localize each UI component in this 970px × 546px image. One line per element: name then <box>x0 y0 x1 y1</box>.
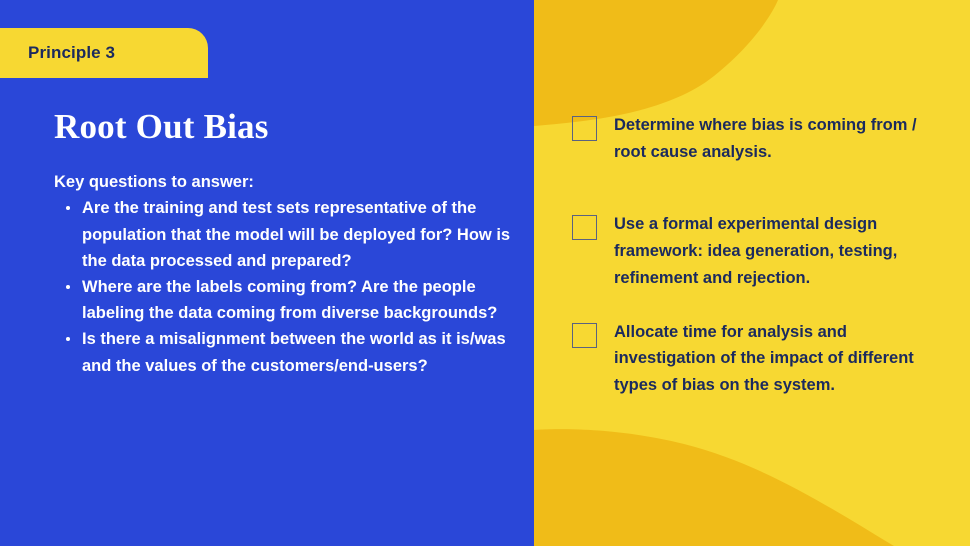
list-item: Are the training and test sets represent… <box>54 195 516 274</box>
list-item: Where are the labels coming from? Are th… <box>54 274 516 326</box>
list-item-text: Are the training and test sets represent… <box>82 199 510 269</box>
wave-shape-top-right <box>534 0 970 126</box>
bullet-dot-icon <box>66 285 70 289</box>
checklist-item[interactable]: Allocate time for analysis and investiga… <box>572 319 952 399</box>
page-title: Root Out Bias <box>54 108 504 147</box>
right-checklist-panel: Determine where bias is coming from / ro… <box>534 0 970 546</box>
left-content-panel: Principle 3 Root Out Bias Key questions … <box>0 0 534 546</box>
wave-shape-bottom-left <box>534 429 894 546</box>
principle-tab-label: Principle 3 <box>28 43 115 63</box>
bullet-dot-icon <box>66 337 70 341</box>
checklist-item-label: Use a formal experimental design framewo… <box>614 211 952 291</box>
list-item: Is there a misalignment between the worl… <box>54 326 516 378</box>
slide-canvas: Principle 3 Root Out Bias Key questions … <box>0 0 970 546</box>
principle-tab: Principle 3 <box>0 28 208 78</box>
checklist-item[interactable]: Use a formal experimental design framewo… <box>572 211 952 291</box>
checklist-item-label: Determine where bias is coming from / ro… <box>614 112 952 165</box>
checklist-item-label: Allocate time for analysis and investiga… <box>614 319 952 399</box>
key-questions-list: Are the training and test sets represent… <box>54 195 516 379</box>
checkbox-icon[interactable] <box>572 323 597 348</box>
list-item-text: Where are the labels coming from? Are th… <box>82 278 497 322</box>
bullet-dot-icon <box>66 206 70 210</box>
checkbox-icon[interactable] <box>572 215 597 240</box>
list-item-text: Is there a misalignment between the worl… <box>82 330 506 374</box>
checklist: Determine where bias is coming from / ro… <box>572 112 952 399</box>
title-block: Root Out Bias <box>54 108 504 147</box>
key-questions-block: Key questions to answer: Are the trainin… <box>54 171 516 379</box>
checklist-item[interactable]: Determine where bias is coming from / ro… <box>572 112 952 165</box>
checkbox-icon[interactable] <box>572 116 597 141</box>
key-questions-label: Key questions to answer: <box>54 171 516 193</box>
